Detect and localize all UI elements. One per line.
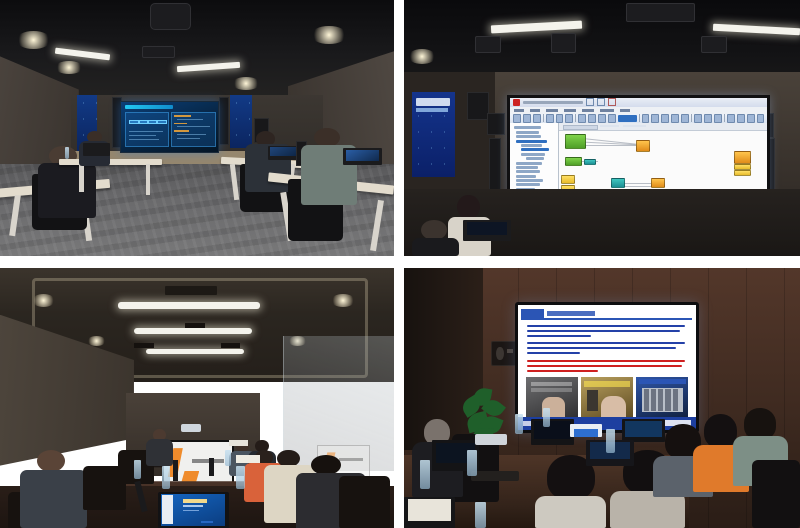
water-bottle bbox=[225, 450, 231, 466]
photo-collage bbox=[0, 0, 800, 528]
photo-panel-technical-briefing bbox=[404, 268, 800, 528]
ceiling-light-bar bbox=[118, 302, 260, 309]
slide-diagram-panel bbox=[125, 112, 169, 147]
photo-panel-software-demo-room bbox=[404, 0, 800, 256]
slide-body-line bbox=[527, 347, 677, 349]
slide-photo bbox=[525, 376, 579, 419]
menu-item-insert[interactable] bbox=[564, 109, 576, 112]
desk-leg bbox=[146, 164, 151, 195]
chair bbox=[752, 460, 800, 528]
slide-text bbox=[183, 510, 200, 512]
slide-body-line bbox=[527, 342, 686, 344]
ceiling-camera bbox=[142, 46, 176, 58]
cut-icon[interactable] bbox=[546, 114, 554, 123]
tree-node-selected[interactable] bbox=[516, 140, 548, 143]
slide-header bbox=[521, 309, 692, 320]
downlight bbox=[232, 77, 260, 90]
attendee bbox=[535, 455, 606, 528]
software-demo-scene bbox=[404, 0, 800, 256]
tab-tertiary[interactable] bbox=[623, 125, 646, 128]
new-icon[interactable] bbox=[513, 114, 521, 123]
conference-speakerphone[interactable] bbox=[181, 424, 201, 432]
laptop[interactable] bbox=[404, 497, 455, 528]
filter-icon[interactable] bbox=[737, 114, 745, 123]
align-center-icon[interactable] bbox=[661, 114, 669, 123]
slide-thumbnail-pane[interactable] bbox=[162, 495, 172, 524]
laptop[interactable] bbox=[158, 492, 229, 528]
diagram-node[interactable] bbox=[734, 151, 751, 164]
grid-icon[interactable] bbox=[642, 114, 650, 123]
copy-icon[interactable] bbox=[556, 114, 564, 123]
menu-item-view[interactable] bbox=[546, 109, 558, 112]
slide-highlight-line bbox=[527, 370, 598, 372]
water-bottle bbox=[162, 466, 171, 489]
open-icon[interactable] bbox=[523, 114, 531, 123]
search-icon[interactable] bbox=[727, 114, 735, 123]
slide-body-line bbox=[527, 330, 680, 332]
desk-cable-tray bbox=[471, 471, 519, 481]
slide-accent-shape bbox=[181, 471, 199, 482]
laptop[interactable] bbox=[343, 148, 382, 165]
close-icon[interactable] bbox=[608, 98, 616, 106]
laptop[interactable] bbox=[622, 419, 666, 442]
ceiling-speaker bbox=[185, 323, 205, 328]
diagram-node[interactable] bbox=[636, 140, 651, 152]
slide-bullets-panel bbox=[171, 112, 215, 147]
photo-panel-boardroom-meeting bbox=[0, 268, 394, 528]
redo-icon[interactable] bbox=[588, 114, 596, 123]
ceiling-air-vent bbox=[165, 286, 216, 295]
align-left-icon[interactable] bbox=[651, 114, 659, 123]
tree-node[interactable] bbox=[516, 162, 542, 165]
ceiling-speaker bbox=[475, 36, 501, 53]
water-bottle bbox=[515, 414, 523, 435]
slide-highlight-line bbox=[527, 365, 682, 367]
pencil-icon[interactable] bbox=[714, 114, 722, 123]
toolbar-separator bbox=[639, 114, 640, 122]
tree-node[interactable] bbox=[526, 157, 544, 160]
diagram-node[interactable] bbox=[611, 178, 626, 188]
banner-subtitle bbox=[416, 108, 447, 111]
menu-item-tools[interactable] bbox=[582, 109, 594, 112]
app-logo-icon bbox=[513, 99, 520, 106]
desk-leg bbox=[79, 164, 84, 192]
save-icon[interactable] bbox=[533, 114, 541, 123]
attendee bbox=[146, 429, 174, 465]
microphone bbox=[173, 460, 178, 481]
toolbar-separator bbox=[543, 114, 544, 122]
ceiling-light-bar bbox=[134, 328, 252, 334]
tree-node[interactable] bbox=[516, 131, 539, 134]
chair bbox=[339, 476, 390, 528]
align-right-icon[interactable] bbox=[671, 114, 679, 123]
tree-node[interactable] bbox=[521, 144, 542, 147]
slide-logo bbox=[201, 521, 214, 524]
attendee bbox=[412, 220, 460, 256]
ceiling-speaker bbox=[134, 343, 154, 347]
downlight bbox=[331, 294, 355, 307]
panel-dial-icon[interactable] bbox=[496, 347, 503, 360]
tab-secondary[interactable] bbox=[600, 125, 619, 128]
speaker-cabinet bbox=[467, 92, 489, 120]
ceiling-projector bbox=[150, 3, 191, 31]
downlight bbox=[16, 31, 51, 49]
notepad bbox=[229, 440, 249, 447]
diagram-node[interactable] bbox=[734, 170, 751, 176]
slide-photo bbox=[580, 376, 634, 419]
toolbar-separator bbox=[691, 114, 692, 122]
water-bottle bbox=[236, 466, 245, 489]
tree-node[interactable] bbox=[521, 153, 546, 156]
wall-control-panel[interactable] bbox=[491, 341, 517, 366]
distribute-icon[interactable] bbox=[681, 114, 689, 123]
slide-body-line bbox=[527, 352, 580, 354]
laptop[interactable] bbox=[83, 143, 111, 156]
downlight bbox=[87, 336, 107, 346]
slide-photo bbox=[635, 376, 689, 419]
water-bottle bbox=[467, 450, 477, 476]
tree-node[interactable] bbox=[516, 166, 538, 169]
menu-item-edit[interactable] bbox=[530, 109, 540, 112]
tree-node[interactable] bbox=[516, 179, 543, 182]
laptop[interactable] bbox=[463, 220, 511, 240]
window-title-bar bbox=[510, 98, 767, 107]
downlight bbox=[32, 294, 56, 307]
slide-title-bar bbox=[125, 105, 173, 109]
run-button[interactable] bbox=[618, 115, 637, 122]
microphone bbox=[209, 458, 214, 476]
led-video-wall bbox=[120, 101, 219, 153]
notepad bbox=[236, 455, 260, 463]
water-bottle bbox=[420, 460, 430, 489]
water-bottle bbox=[606, 429, 615, 452]
settings-icon[interactable] bbox=[747, 114, 755, 123]
slide-body-line bbox=[527, 325, 686, 327]
laptop-screen bbox=[161, 494, 225, 526]
panel-port-icon[interactable] bbox=[507, 349, 512, 353]
zoom-in-icon[interactable] bbox=[598, 114, 606, 123]
canvas-tab-bar[interactable] bbox=[559, 123, 768, 131]
water-bottle bbox=[543, 408, 550, 426]
brand-banner bbox=[412, 92, 456, 176]
diagram-node[interactable] bbox=[565, 134, 586, 149]
connector bbox=[586, 145, 636, 146]
tab-project-view[interactable] bbox=[563, 125, 598, 130]
diagram-node[interactable] bbox=[651, 178, 666, 188]
tree-node[interactable] bbox=[516, 183, 540, 186]
downlight bbox=[408, 49, 436, 64]
boardroom-scene bbox=[0, 268, 394, 528]
undo-icon[interactable] bbox=[578, 114, 586, 123]
zoom-out-icon[interactable] bbox=[608, 114, 616, 123]
ceiling-speaker bbox=[701, 36, 727, 53]
menu-bar[interactable] bbox=[510, 107, 767, 114]
menu-item-help[interactable] bbox=[620, 109, 630, 112]
tissue-box-label bbox=[574, 429, 598, 437]
toolbar[interactable] bbox=[510, 114, 767, 123]
downlight bbox=[311, 26, 346, 44]
training-classroom-scene bbox=[0, 0, 394, 256]
laptop[interactable] bbox=[531, 419, 575, 445]
help-icon[interactable] bbox=[757, 114, 765, 123]
slide-header-title bbox=[547, 311, 595, 317]
diagram-node[interactable] bbox=[584, 159, 596, 165]
tree-node[interactable] bbox=[516, 170, 541, 173]
ceiling-light-bar bbox=[146, 349, 245, 354]
tree-node-selected[interactable] bbox=[521, 148, 549, 151]
attendee bbox=[20, 450, 87, 528]
speaker-cabinet bbox=[487, 113, 505, 135]
slide-subtitle bbox=[183, 505, 203, 507]
diagram-node[interactable] bbox=[561, 175, 576, 184]
diagram-node[interactable] bbox=[565, 157, 582, 166]
photo-panel-training-classroom bbox=[0, 0, 394, 256]
maximize-icon[interactable] bbox=[597, 98, 605, 106]
ceiling-speaker bbox=[551, 33, 577, 53]
minimize-icon[interactable] bbox=[586, 98, 594, 106]
slide-body-line bbox=[527, 335, 591, 337]
banner-logo bbox=[416, 98, 450, 106]
slide-title bbox=[183, 499, 207, 503]
technical-briefing-scene bbox=[404, 268, 800, 528]
toolbar-separator bbox=[575, 114, 576, 122]
tree-node[interactable] bbox=[516, 175, 536, 178]
attendee bbox=[299, 128, 358, 205]
toolbar-separator bbox=[724, 114, 725, 122]
menu-item-file[interactable] bbox=[514, 109, 524, 112]
menu-item-window[interactable] bbox=[600, 109, 614, 112]
water-bottle bbox=[475, 502, 486, 528]
water-bottle bbox=[134, 460, 141, 478]
conference-speakerphone[interactable] bbox=[475, 434, 507, 444]
tree-node[interactable] bbox=[514, 126, 541, 129]
slide-header-rule bbox=[521, 318, 692, 320]
slide-highlight-line bbox=[527, 360, 686, 362]
tree-node[interactable] bbox=[516, 135, 541, 138]
connect-icon[interactable] bbox=[694, 114, 702, 123]
speaker-right bbox=[219, 97, 229, 145]
paste-icon[interactable] bbox=[565, 114, 573, 123]
ceiling-speaker bbox=[221, 343, 241, 347]
window-title-text bbox=[523, 101, 583, 104]
ceiling-projector bbox=[626, 3, 695, 23]
pointer-icon[interactable] bbox=[704, 114, 712, 123]
water-bottle bbox=[65, 147, 69, 159]
